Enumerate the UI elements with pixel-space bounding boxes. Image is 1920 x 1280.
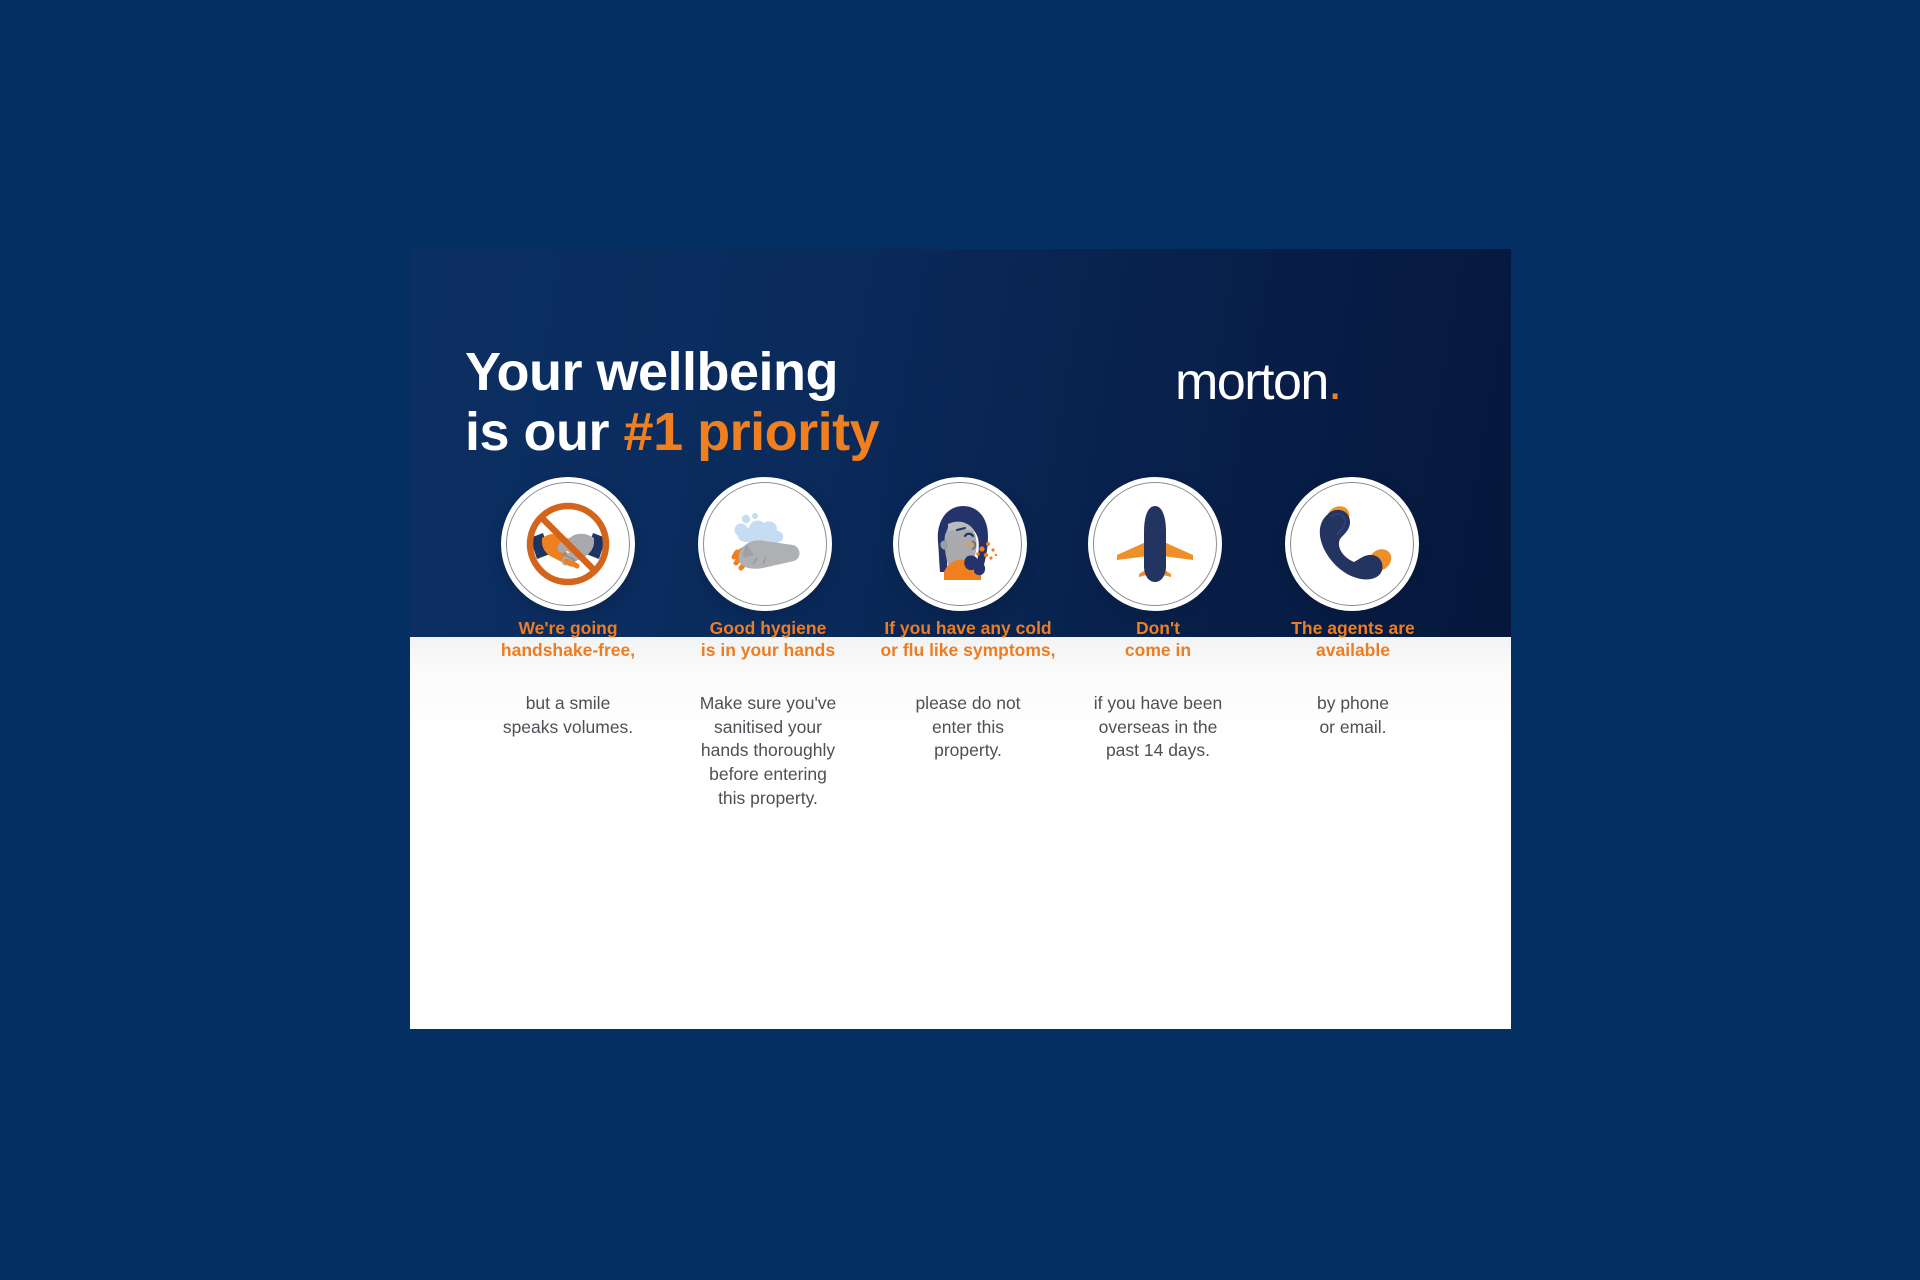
telephone-handset-circle bbox=[1285, 477, 1419, 611]
sneezing-person-circle bbox=[893, 477, 1027, 611]
no-handshake-icon bbox=[516, 492, 620, 596]
icon-circle-1 bbox=[501, 477, 635, 611]
page-title: Your wellbeing is our #1 priority bbox=[465, 342, 879, 463]
headline-line-1: Your wellbeing bbox=[465, 342, 838, 402]
message-column-5: The agents are available by phone or ema… bbox=[1218, 617, 1488, 739]
wellbeing-poster: Your wellbeing is our #1 priority morton… bbox=[410, 249, 1511, 1029]
no-handshake-circle bbox=[501, 477, 635, 611]
hand-washing-circle bbox=[698, 477, 832, 611]
icon-circle-4 bbox=[1088, 477, 1222, 611]
message-columns: We're going handshake-free, but a smile … bbox=[410, 617, 1511, 1017]
icon-circle-3 bbox=[893, 477, 1027, 611]
icon-circle-2 bbox=[698, 477, 832, 611]
icon-circle-5 bbox=[1285, 477, 1419, 611]
headline-line-2-plain: is our bbox=[465, 402, 624, 462]
column-5-heading: The agents are available bbox=[1218, 617, 1488, 662]
headline-line-2-accent: #1 priority bbox=[624, 402, 880, 462]
logo-dot: . bbox=[1328, 353, 1341, 411]
telephone-handset-icon bbox=[1300, 492, 1404, 596]
hand-washing-icon bbox=[713, 492, 817, 596]
logo-wordmark: morton bbox=[1175, 353, 1328, 411]
column-5-body: by phone or email. bbox=[1218, 692, 1488, 740]
sneezing-person-icon bbox=[908, 492, 1012, 596]
airplane-icon bbox=[1103, 492, 1207, 596]
morton-logo: morton. bbox=[1175, 356, 1341, 408]
page-backdrop: Your wellbeing is our #1 priority morton… bbox=[0, 0, 1920, 1280]
airplane-circle bbox=[1088, 477, 1222, 611]
